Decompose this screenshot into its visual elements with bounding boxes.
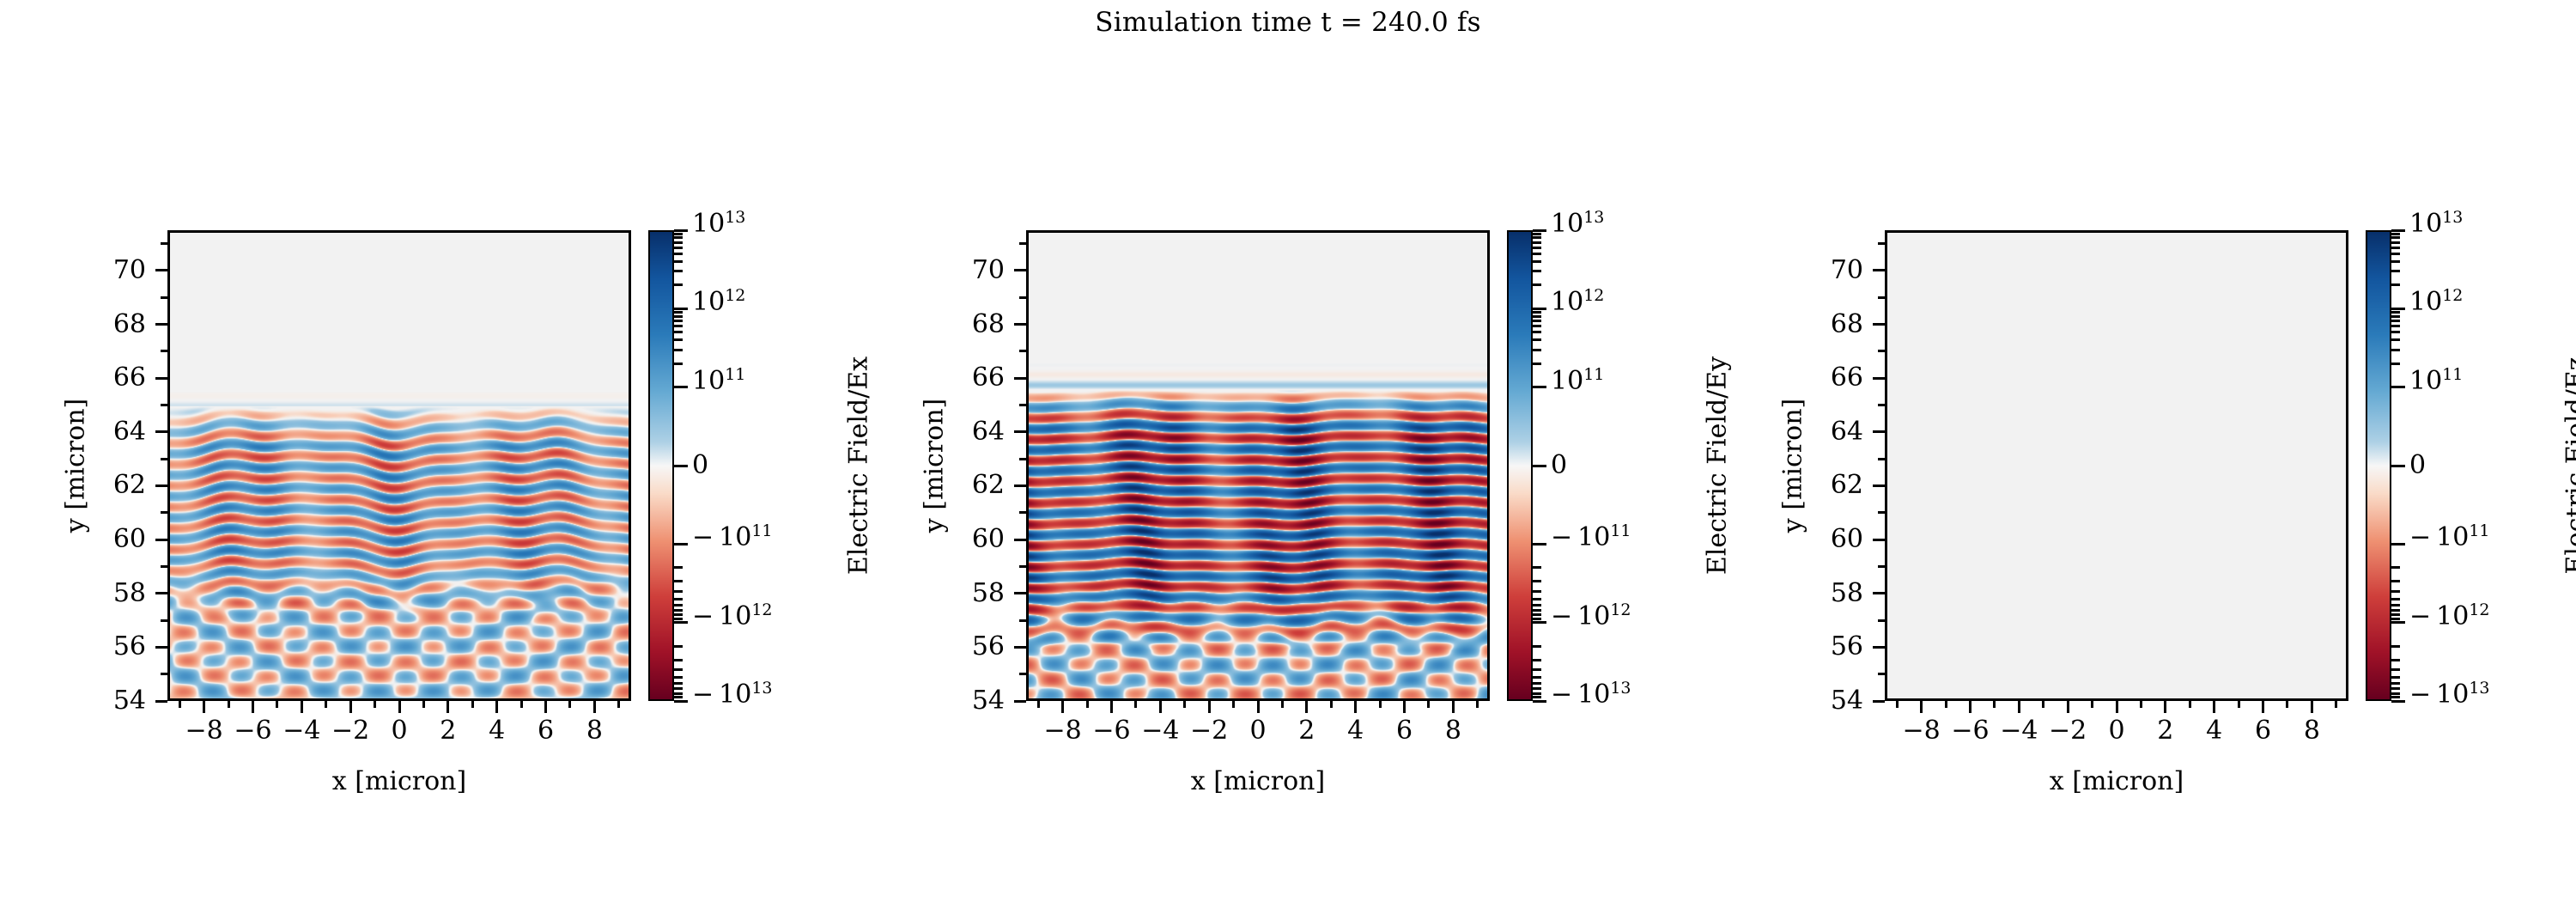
- colorbar-minor-tick-ex: [674, 618, 683, 620]
- colorbar-tick-ex--10000000000000: [674, 700, 688, 703]
- colorbar-minor-tick-ex: [674, 236, 683, 239]
- ytick-major-60: [1873, 539, 1885, 541]
- colorbar-minor-tick-ey: [1533, 645, 1541, 648]
- plot-area-ey: [1026, 230, 1490, 701]
- xtick-minor-1: [422, 701, 425, 708]
- colorbar-tick-ey-1000000000000: [1533, 308, 1546, 310]
- colorbar-minor-tick-ez: [2391, 260, 2400, 263]
- colorbar-minor-tick-ex: [674, 283, 683, 286]
- colorbar-tick-ez-10000000000000: [2391, 229, 2405, 232]
- colorbar-minor-tick-ey: [1533, 598, 1541, 600]
- ytick-major-64: [155, 430, 167, 433]
- ytick-major-54: [155, 700, 167, 703]
- colorbar-minor-tick-ex: [674, 580, 683, 582]
- colorbar-minor-tick-ey: [1533, 247, 1541, 249]
- colorbar-minor-tick-ez: [2391, 566, 2400, 569]
- xtick-minor--5: [276, 701, 278, 708]
- ytick-label-60: 60: [43, 527, 146, 552]
- x-axis-label-ez: x [micron]: [1885, 766, 2348, 796]
- xtick-minor-7: [2286, 701, 2288, 708]
- colorbar-tick-ex--100000000000: [674, 543, 688, 545]
- colorbar-minor-tick-ex: [674, 233, 683, 235]
- xtick-major--8: [1920, 701, 1923, 713]
- ytick-major-70: [155, 269, 167, 271]
- xtick-minor--7: [1086, 701, 1089, 708]
- ytick-minor-65: [161, 404, 167, 406]
- ytick-label-66: 66: [1760, 365, 1863, 391]
- colorbar-tick-ez--1000000000000: [2391, 621, 2405, 624]
- ytick-minor-69: [161, 296, 167, 299]
- colorbar-minor-tick-ez: [2391, 241, 2400, 244]
- ytick-minor-63: [1878, 458, 1885, 460]
- ytick-major-66: [1873, 377, 1885, 380]
- colorbar-minor-tick-ey: [1533, 338, 1541, 341]
- colorbar-minor-tick-ex: [674, 609, 683, 612]
- colorbar-tick-label-ey--100000000000: − 1011: [1551, 525, 1631, 551]
- colorbar-minor-tick-ex: [674, 566, 683, 569]
- colorbar-minor-tick-ez: [2391, 668, 2400, 671]
- xtick-major-2: [2164, 701, 2166, 713]
- xtick-major--6: [1110, 701, 1113, 713]
- xtick-minor-9: [617, 701, 620, 708]
- colorbar-minor-tick-ey: [1533, 270, 1541, 272]
- colorbar-minor-tick-ez: [2391, 311, 2400, 314]
- xtick-minor--3: [2042, 701, 2044, 708]
- colorbar-minor-tick-ez: [2391, 253, 2400, 255]
- ytick-major-54: [1014, 700, 1026, 703]
- ytick-label-54: 54: [1760, 688, 1863, 714]
- ytick-major-66: [1014, 377, 1026, 380]
- xtick-major-2: [447, 701, 449, 713]
- ytick-minor-57: [1019, 619, 1026, 622]
- ytick-minor-63: [161, 458, 167, 460]
- colorbar-minor-tick-ey: [1533, 236, 1541, 239]
- ytick-minor-59: [161, 565, 167, 568]
- xtick-major-6: [544, 701, 547, 713]
- ytick-label-64: 64: [1760, 419, 1863, 445]
- ytick-major-56: [155, 646, 167, 649]
- colorbar-minor-tick-ex: [674, 331, 683, 333]
- colorbar-minor-tick-ey: [1533, 696, 1541, 698]
- ytick-minor-59: [1878, 565, 1885, 568]
- ytick-label-70: 70: [1760, 258, 1863, 283]
- ytick-label-62: 62: [902, 472, 1005, 498]
- panel-ez: 545658606264666870−8−6−4−202468x [micron…: [1717, 0, 2576, 902]
- ytick-minor-61: [1878, 511, 1885, 514]
- colorbar-minor-tick-ex: [674, 325, 683, 327]
- ytick-major-60: [155, 539, 167, 541]
- ytick-major-58: [1873, 592, 1885, 594]
- colorbar-minor-tick-ey: [1533, 618, 1541, 620]
- xtick-major--8: [203, 701, 205, 713]
- ytick-major-70: [1873, 269, 1885, 271]
- colorbar-tick-label-ez--10000000000000: − 1013: [2409, 682, 2490, 708]
- xtick-major-2: [1305, 701, 1308, 713]
- colorbar-tick-label-ez-1000000000000: 1012: [2409, 289, 2463, 315]
- colorbar-minor-tick-ez: [2391, 609, 2400, 612]
- ytick-minor-61: [1019, 511, 1026, 514]
- xtick-minor-5: [520, 701, 523, 708]
- colorbar-tick-ex-1000000000000: [674, 308, 688, 310]
- x-axis-label-ex: x [micron]: [167, 766, 631, 796]
- colorbar-minor-tick-ey: [1533, 659, 1541, 661]
- colorbar-tick-label-ey-0: 0: [1551, 453, 1567, 478]
- ytick-major-62: [1873, 485, 1885, 487]
- colorbar-tick-label-ex--100000000000: − 1011: [692, 525, 773, 551]
- colorbar-tick-label-ex-100000000000: 1011: [692, 369, 745, 394]
- colorbar-minor-tick-ez: [2391, 320, 2400, 322]
- xtick-major-6: [2262, 701, 2264, 713]
- colorbar-minor-tick-ez: [2391, 580, 2400, 582]
- xtick-major--6: [1969, 701, 1971, 713]
- xtick-minor--1: [2091, 701, 2093, 708]
- colorbar-tick-label-ey-1000000000000: 1012: [1551, 289, 1604, 315]
- field-heatmap-ey: [1029, 233, 1487, 698]
- xtick-minor--3: [1183, 701, 1186, 708]
- colorbar-minor-tick-ey: [1533, 260, 1541, 263]
- colorbar-tick-label-ez-0: 0: [2409, 453, 2426, 478]
- xtick-major--2: [2067, 701, 2069, 713]
- colorbar-tick-label-ez-10000000000000: 1013: [2409, 211, 2463, 237]
- xtick-major--6: [252, 701, 254, 713]
- colorbar-minor-tick-ey: [1533, 241, 1541, 244]
- ytick-minor-67: [1878, 350, 1885, 352]
- colorbar-minor-tick-ez: [2391, 590, 2400, 593]
- xtick-minor-7: [1427, 701, 1430, 708]
- xtick-major-4: [2213, 701, 2215, 713]
- colorbar-tick-ey-0: [1533, 465, 1546, 467]
- ytick-minor-55: [1878, 673, 1885, 675]
- ytick-label-60: 60: [1760, 527, 1863, 552]
- colorbar-tick-label-ey-100000000000: 1011: [1551, 369, 1604, 394]
- plot-area-ez: [1885, 230, 2348, 701]
- colorbar-minor-tick-ey: [1533, 668, 1541, 671]
- ytick-label-64: 64: [43, 419, 146, 445]
- colorbar-minor-tick-ez: [2391, 618, 2400, 620]
- xtick-minor--7: [228, 701, 230, 708]
- colorbar-tick-ey--100000000000: [1533, 543, 1546, 545]
- colorbar-minor-tick-ez: [2391, 696, 2400, 698]
- colorbar-minor-tick-ex: [674, 676, 683, 679]
- xtick-major-6: [1403, 701, 1406, 713]
- xtick-major-8: [593, 701, 596, 713]
- xtick-minor--9: [1896, 701, 1899, 708]
- ytick-label-56: 56: [43, 634, 146, 660]
- colorbar-tick-ex-100000000000: [674, 386, 688, 388]
- x-axis-label-ey: x [micron]: [1026, 766, 1490, 796]
- colorbar-tick-ex--1000000000000: [674, 621, 688, 624]
- xtick-minor--7: [1945, 701, 1947, 708]
- colorbar-gradient-ey: [1509, 232, 1531, 699]
- colorbar-tick-ez-1000000000000: [2391, 308, 2405, 310]
- colorbar-tick-label-ez--1000000000000: − 1012: [2409, 604, 2490, 630]
- ytick-major-58: [1014, 592, 1026, 594]
- ytick-minor-71: [161, 242, 167, 245]
- colorbar-minor-tick-ex: [674, 247, 683, 249]
- ytick-major-66: [155, 377, 167, 380]
- ytick-major-62: [155, 485, 167, 487]
- colorbar-tick-label-ex-0: 0: [692, 453, 708, 478]
- colorbar-tick-ez--100000000000: [2391, 543, 2405, 545]
- xtick-major--2: [349, 701, 352, 713]
- colorbar-minor-tick-ey: [1533, 363, 1541, 365]
- colorbar-tick-label-ex-10000000000000: 1013: [692, 211, 745, 237]
- colorbar-minor-tick-ex: [674, 590, 683, 593]
- ytick-major-68: [1873, 323, 1885, 326]
- xtick-minor-5: [2238, 701, 2240, 708]
- colorbar-minor-tick-ez: [2391, 659, 2400, 661]
- colorbar-minor-tick-ez: [2391, 682, 2400, 685]
- colorbar-tick-ez--10000000000000: [2391, 700, 2405, 703]
- ytick-major-60: [1014, 539, 1026, 541]
- colorbar-minor-tick-ex: [674, 270, 683, 272]
- xtick-minor-3: [471, 701, 474, 708]
- ytick-major-56: [1014, 646, 1026, 649]
- ytick-label-70: 70: [902, 258, 1005, 283]
- colorbar-minor-tick-ey: [1533, 325, 1541, 327]
- colorbar-minor-tick-ex: [674, 363, 683, 365]
- ytick-label-60: 60: [902, 527, 1005, 552]
- colorbar-minor-tick-ez: [2391, 645, 2400, 648]
- colorbar-minor-tick-ez: [2391, 331, 2400, 333]
- ytick-label-66: 66: [902, 365, 1005, 391]
- ytick-label-58: 58: [43, 581, 146, 606]
- colorbar-tick-label-ey--10000000000000: − 1013: [1551, 682, 1631, 708]
- colorbar-minor-tick-ey: [1533, 253, 1541, 255]
- xtick-minor--9: [1037, 701, 1040, 708]
- ytick-major-58: [155, 592, 167, 594]
- ytick-minor-69: [1019, 296, 1026, 299]
- ytick-minor-71: [1878, 242, 1885, 245]
- ytick-major-68: [1014, 323, 1026, 326]
- colorbar-minor-tick-ex: [674, 260, 683, 263]
- colorbar-minor-tick-ex: [674, 659, 683, 661]
- ytick-minor-67: [1019, 350, 1026, 352]
- xtick-minor-3: [2189, 701, 2191, 708]
- colorbar-ez: [2366, 230, 2391, 701]
- colorbar-minor-tick-ez: [2391, 604, 2400, 606]
- y-axis-label-ez: y [micron]: [1778, 311, 1808, 620]
- y-axis-label-ey: y [micron]: [920, 311, 950, 620]
- xtick-minor--5: [1134, 701, 1137, 708]
- colorbar-tick-ex-10000000000000: [674, 229, 688, 232]
- y-axis-label-ex: y [micron]: [61, 311, 91, 620]
- colorbar-minor-tick-ey: [1533, 590, 1541, 593]
- colorbar-minor-tick-ex: [674, 696, 683, 698]
- colorbar-minor-tick-ez: [2391, 692, 2400, 695]
- xtick-major--4: [2018, 701, 2020, 713]
- ytick-label-68: 68: [43, 312, 146, 338]
- colorbar-minor-tick-ez: [2391, 613, 2400, 616]
- colorbar-minor-tick-ez: [2391, 247, 2400, 249]
- xtick-minor-1: [2140, 701, 2142, 708]
- colorbar-gradient-ez: [2367, 232, 2390, 699]
- xtick-minor-7: [568, 701, 571, 708]
- colorbar-minor-tick-ex: [674, 338, 683, 341]
- colorbar-minor-tick-ez: [2391, 270, 2400, 272]
- colorbar-minor-tick-ex: [674, 598, 683, 600]
- colorbar-ey: [1507, 230, 1533, 701]
- colorbar-tick-label-ez-100000000000: 1011: [2409, 369, 2463, 394]
- xtick-major-8: [2311, 701, 2313, 713]
- colorbar-minor-tick-ez: [2391, 676, 2400, 679]
- colorbar-gradient-ex: [650, 232, 672, 699]
- xtick-label-8: 8: [1419, 718, 1487, 744]
- ytick-label-64: 64: [902, 419, 1005, 445]
- colorbar-minor-tick-ez: [2391, 338, 2400, 341]
- colorbar-tick-ey-10000000000000: [1533, 229, 1546, 232]
- colorbar-minor-tick-ex: [674, 613, 683, 616]
- colorbar-minor-tick-ex: [674, 668, 683, 671]
- colorbar-tick-ey-100000000000: [1533, 386, 1546, 388]
- ytick-minor-57: [1878, 619, 1885, 622]
- xtick-minor-1: [1281, 701, 1284, 708]
- colorbar-minor-tick-ex: [674, 687, 683, 690]
- ytick-label-68: 68: [902, 312, 1005, 338]
- colorbar-tick-label-ex-1000000000000: 1012: [692, 289, 745, 315]
- colorbar-label-ez: Electric Field/Ez: [2561, 277, 2576, 655]
- ytick-minor-65: [1019, 404, 1026, 406]
- ytick-label-54: 54: [902, 688, 1005, 714]
- xtick-minor-3: [1330, 701, 1333, 708]
- ytick-label-58: 58: [902, 581, 1005, 606]
- xtick-label-8: 8: [560, 718, 629, 744]
- ytick-minor-57: [161, 619, 167, 622]
- ytick-minor-71: [1019, 242, 1026, 245]
- colorbar-tick-label-ey-10000000000000: 1013: [1551, 211, 1604, 237]
- colorbar-minor-tick-ey: [1533, 604, 1541, 606]
- colorbar-minor-tick-ex: [674, 349, 683, 351]
- xtick-minor--9: [179, 701, 181, 708]
- ytick-major-54: [1873, 700, 1885, 703]
- xtick-minor-9: [1476, 701, 1479, 708]
- xtick-minor--3: [325, 701, 327, 708]
- colorbar-minor-tick-ey: [1533, 315, 1541, 318]
- colorbar-tick-ez-0: [2391, 465, 2405, 467]
- colorbar-minor-tick-ey: [1533, 311, 1541, 314]
- ytick-minor-67: [161, 350, 167, 352]
- colorbar-minor-tick-ex: [674, 604, 683, 606]
- colorbar-minor-tick-ez: [2391, 325, 2400, 327]
- xtick-major-0: [1257, 701, 1260, 713]
- ytick-label-66: 66: [43, 365, 146, 391]
- ytick-major-62: [1014, 485, 1026, 487]
- colorbar-minor-tick-ez: [2391, 236, 2400, 239]
- colorbar-minor-tick-ey: [1533, 682, 1541, 685]
- ytick-minor-63: [1019, 458, 1026, 460]
- colorbar-tick-label-ey--1000000000000: − 1012: [1551, 604, 1631, 630]
- xtick-major--2: [1208, 701, 1211, 713]
- colorbar-minor-tick-ez: [2391, 233, 2400, 235]
- colorbar-minor-tick-ex: [674, 692, 683, 695]
- colorbar-tick-ex-0: [674, 465, 688, 467]
- xtick-minor-9: [2335, 701, 2337, 708]
- colorbar-minor-tick-ey: [1533, 349, 1541, 351]
- xtick-minor--1: [1232, 701, 1235, 708]
- ytick-label-54: 54: [43, 688, 146, 714]
- colorbar-tick-label-ex--10000000000000: − 1013: [692, 682, 773, 708]
- colorbar-minor-tick-ex: [674, 253, 683, 255]
- xtick-major--8: [1061, 701, 1064, 713]
- field-heatmap-ez: [1887, 233, 2346, 698]
- xtick-minor-5: [1379, 701, 1382, 708]
- colorbar-minor-tick-ez: [2391, 687, 2400, 690]
- colorbar-minor-tick-ey: [1533, 692, 1541, 695]
- colorbar-minor-tick-ez: [2391, 349, 2400, 351]
- ytick-minor-69: [1878, 296, 1885, 299]
- colorbar-minor-tick-ez: [2391, 315, 2400, 318]
- xtick-major-4: [495, 701, 498, 713]
- colorbar-minor-tick-ez: [2391, 598, 2400, 600]
- field-heatmap-ex: [170, 233, 629, 698]
- colorbar-ex: [648, 230, 674, 701]
- colorbar-minor-tick-ez: [2391, 363, 2400, 365]
- ytick-major-64: [1873, 430, 1885, 433]
- ytick-label-70: 70: [43, 258, 146, 283]
- colorbar-tick-ez-100000000000: [2391, 386, 2405, 388]
- colorbar-minor-tick-ex: [674, 241, 683, 244]
- colorbar-minor-tick-ey: [1533, 580, 1541, 582]
- colorbar-minor-tick-ex: [674, 311, 683, 314]
- colorbar-minor-tick-ex: [674, 315, 683, 318]
- colorbar-minor-tick-ey: [1533, 233, 1541, 235]
- xtick-minor--1: [374, 701, 376, 708]
- colorbar-minor-tick-ey: [1533, 320, 1541, 322]
- ytick-label-58: 58: [1760, 581, 1863, 606]
- plot-area-ex: [167, 230, 631, 701]
- xtick-major-0: [2116, 701, 2118, 713]
- colorbar-minor-tick-ey: [1533, 687, 1541, 690]
- ytick-minor-55: [1019, 673, 1026, 675]
- ytick-minor-61: [161, 511, 167, 514]
- colorbar-minor-tick-ex: [674, 682, 683, 685]
- xtick-major-8: [1452, 701, 1455, 713]
- colorbar-tick-label-ez--100000000000: − 1011: [2409, 525, 2490, 551]
- colorbar-minor-tick-ey: [1533, 676, 1541, 679]
- colorbar-tick-label-ex--1000000000000: − 1012: [692, 604, 773, 630]
- xtick-label-8: 8: [2277, 718, 2346, 744]
- panel-ey: 545658606264666870−8−6−4−202468x [micron…: [859, 0, 1717, 902]
- ytick-label-56: 56: [902, 634, 1005, 660]
- colorbar-minor-tick-ez: [2391, 283, 2400, 286]
- colorbar-minor-tick-ey: [1533, 609, 1541, 612]
- ytick-major-56: [1873, 646, 1885, 649]
- xtick-major--4: [1159, 701, 1162, 713]
- xtick-major-0: [398, 701, 401, 713]
- colorbar-tick-ey--10000000000000: [1533, 700, 1546, 703]
- colorbar-minor-tick-ex: [674, 645, 683, 648]
- panel-ex: 545658606264666870−8−6−4−202468x [micron…: [0, 0, 859, 902]
- ytick-major-70: [1014, 269, 1026, 271]
- ytick-major-64: [1014, 430, 1026, 433]
- colorbar-minor-tick-ey: [1533, 613, 1541, 616]
- ytick-major-68: [155, 323, 167, 326]
- ytick-label-62: 62: [1760, 472, 1863, 498]
- ytick-label-68: 68: [1760, 312, 1863, 338]
- colorbar-minor-tick-ey: [1533, 283, 1541, 286]
- ytick-minor-65: [1878, 404, 1885, 406]
- ytick-minor-59: [1019, 565, 1026, 568]
- ytick-label-56: 56: [1760, 634, 1863, 660]
- colorbar-minor-tick-ey: [1533, 566, 1541, 569]
- xtick-minor--5: [1993, 701, 1996, 708]
- colorbar-minor-tick-ex: [674, 320, 683, 322]
- xtick-major--4: [301, 701, 303, 713]
- ytick-minor-55: [161, 673, 167, 675]
- colorbar-tick-ey--1000000000000: [1533, 621, 1546, 624]
- colorbar-minor-tick-ey: [1533, 331, 1541, 333]
- xtick-major-4: [1354, 701, 1357, 713]
